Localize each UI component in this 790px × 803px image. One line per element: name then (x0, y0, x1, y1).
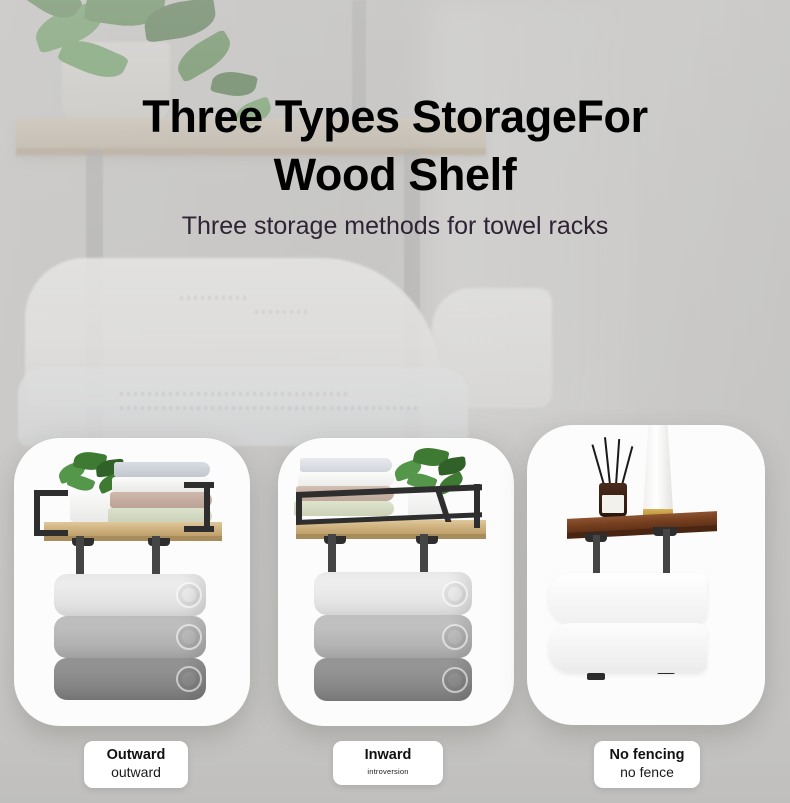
label-subtitle: no fence (594, 764, 700, 781)
label-no-fencing[interactable]: No fencing no fence (594, 741, 700, 788)
label-row: Outward outward Inward introversion No f… (0, 0, 790, 803)
label-subtitle: outward (84, 764, 188, 781)
label-title: Outward (84, 747, 188, 764)
label-title: Inward (333, 747, 443, 764)
label-inward[interactable]: Inward introversion (333, 741, 443, 785)
label-subtitle: introversion (333, 764, 443, 778)
promo-banner: Three Types StorageFor Wood Shelf Three … (0, 0, 790, 803)
label-title: No fencing (594, 747, 700, 764)
label-outward[interactable]: Outward outward (84, 741, 188, 788)
